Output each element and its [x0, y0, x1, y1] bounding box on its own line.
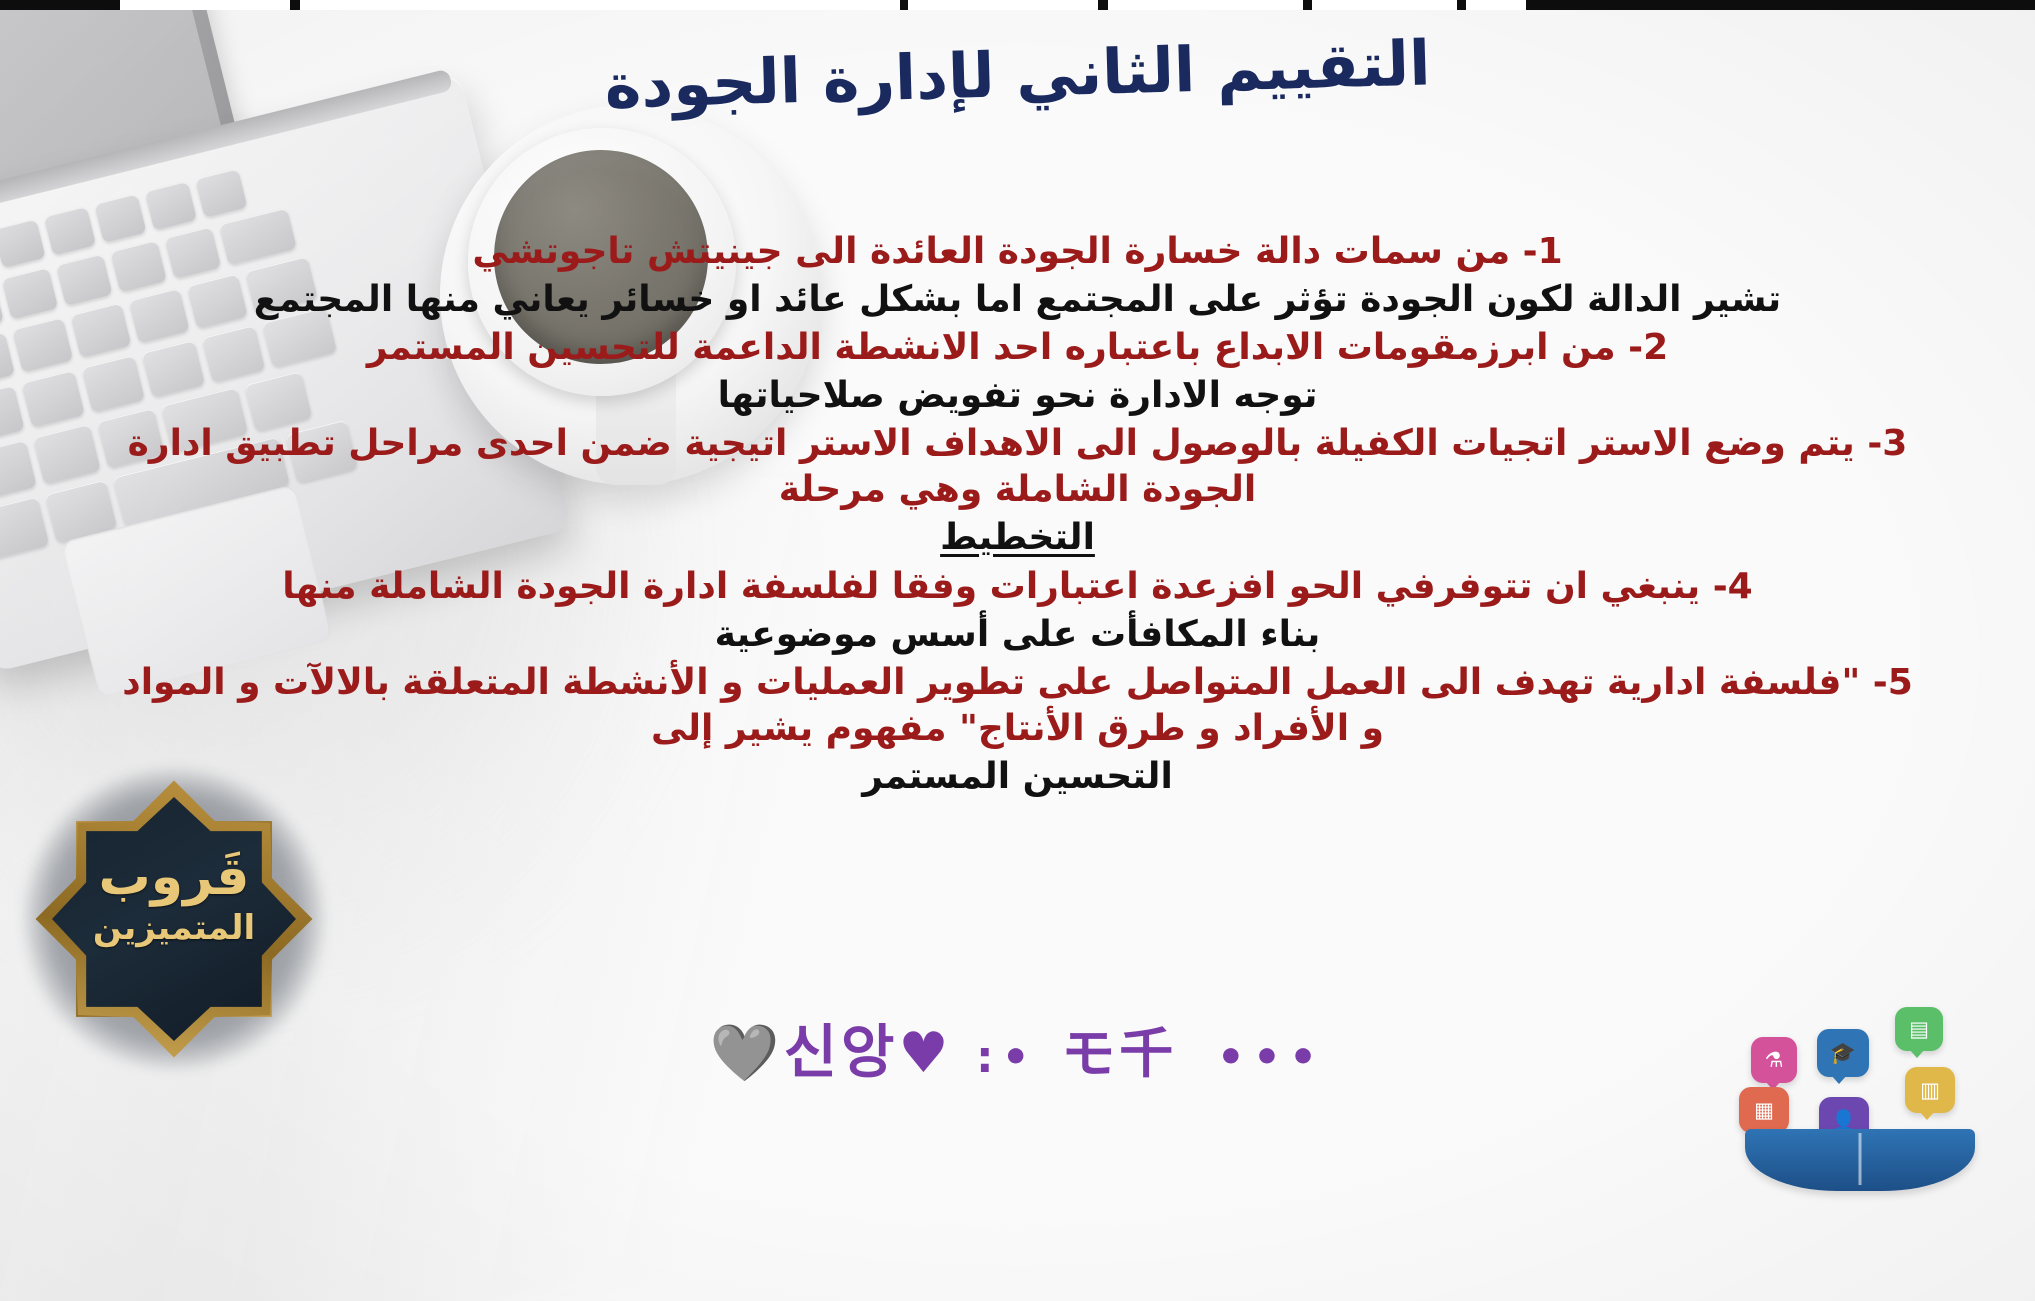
graduation-cap-icon: 🎓	[1817, 1029, 1869, 1077]
cap-glyph: 🎓	[1830, 1041, 1856, 1066]
chart-glyph: ▤	[1909, 1017, 1929, 1041]
solid-heart-icon: ♥	[898, 1021, 952, 1086]
dots-right: •••	[1217, 1032, 1325, 1083]
question-2: 2- من ابرزمقومات الابداع باعتباره احد ال…	[113, 324, 1923, 372]
badge-line-2: المتميزين	[38, 903, 310, 954]
answer-5: التحسين المستمر	[113, 753, 1923, 801]
newspaper-icon: ▦	[1739, 1087, 1789, 1133]
top-filmstrip	[0, 0, 2035, 10]
education-icon-cluster: ⚗ ▤ ▦ 🎓 ▥ 👤	[1745, 1001, 1975, 1191]
flask-glyph: ⚗	[1765, 1048, 1784, 1072]
answer-4: بناء المكافأت على أسس موضوعية	[113, 611, 1923, 659]
answer-1: تشير الدالة لكون الجودة تؤثر على المجتمع…	[113, 276, 1923, 324]
newspaper-glyph: ▦	[1754, 1098, 1774, 1122]
books-glyph: ▥	[1920, 1078, 1940, 1102]
answer-3: التخطيط	[113, 514, 1923, 562]
badge-line-1: قَروب	[38, 851, 310, 903]
flask-icon: ⚗	[1751, 1037, 1797, 1083]
question-5: 5- "فلسفة ادارية تهدف الى العمل المتواصل…	[113, 659, 1923, 753]
books-icon: ▥	[1905, 1067, 1955, 1113]
badge-text: قَروب المتميزين	[38, 851, 310, 954]
question-3: 3- يتم وضع الاستر اتجيات الكفيلة بالوصول…	[113, 420, 1923, 514]
question-4: 4- ينبغي ان تتوفرفي الحو افزعدة اعتبارات…	[113, 563, 1923, 611]
cjk-text: モ千	[1061, 1022, 1177, 1085]
striped-heart-icon: 🩶	[710, 1020, 784, 1086]
answer-2: توجه الادارة نحو تفويض صلاحياتها	[113, 372, 1923, 420]
chart-icon: ▤	[1895, 1007, 1943, 1051]
qa-list: 1- من سمات دالة خسارة الجودة العائدة الى…	[0, 228, 2035, 801]
question-1: 1- من سمات دالة خسارة الجودة العائدة الى…	[113, 228, 1923, 276]
open-book-icon	[1745, 1129, 1975, 1191]
korean-text: 신앙	[784, 1018, 899, 1086]
dots-left: :•	[976, 1032, 1038, 1083]
group-logo-badge: قَروب المتميزين	[10, 755, 350, 1085]
